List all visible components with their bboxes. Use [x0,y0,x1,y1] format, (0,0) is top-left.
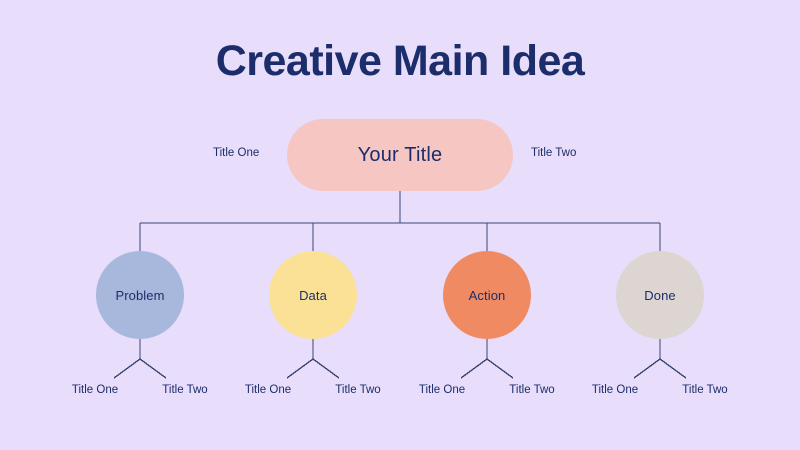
root-side-label-right: Title Two [531,147,576,159]
page-title: Creative Main Idea [0,38,800,85]
leaf-label-3-1: Title Two [660,384,750,396]
leaf-label-1-1: Title Two [313,384,403,396]
fork-arm-right-3 [660,359,686,378]
leaf-label-0-1: Title Two [140,384,230,396]
fork-arm-left-0 [114,359,140,378]
branch-node-problem[interactable]: Problem [96,251,184,339]
fork-arm-right-1 [313,359,339,378]
fork-arm-left-2 [461,359,487,378]
branch-node-label: Problem [115,288,164,303]
leaf-label-2-0: Title One [397,384,487,396]
slide-canvas: Creative Main Idea Your Title Title One … [0,0,800,450]
root-side-label-left: Title One [213,147,259,159]
root-node-label: Your Title [358,144,443,167]
fork-arm-right-0 [140,359,166,378]
fork-arm-left-3 [634,359,660,378]
fork-arm-left-1 [287,359,313,378]
leaf-label-0-0: Title One [50,384,140,396]
fork-arm-right-2 [487,359,513,378]
branch-node-data[interactable]: Data [269,251,357,339]
leaf-label-2-1: Title Two [487,384,577,396]
leaf-label-3-0: Title One [570,384,660,396]
root-node[interactable]: Your Title [287,119,513,191]
leaf-label-1-0: Title One [223,384,313,396]
branch-node-label: Action [469,288,506,303]
branch-node-action[interactable]: Action [443,251,531,339]
branch-node-label: Done [644,288,675,303]
branch-node-label: Data [299,288,327,303]
branch-node-done[interactable]: Done [616,251,704,339]
